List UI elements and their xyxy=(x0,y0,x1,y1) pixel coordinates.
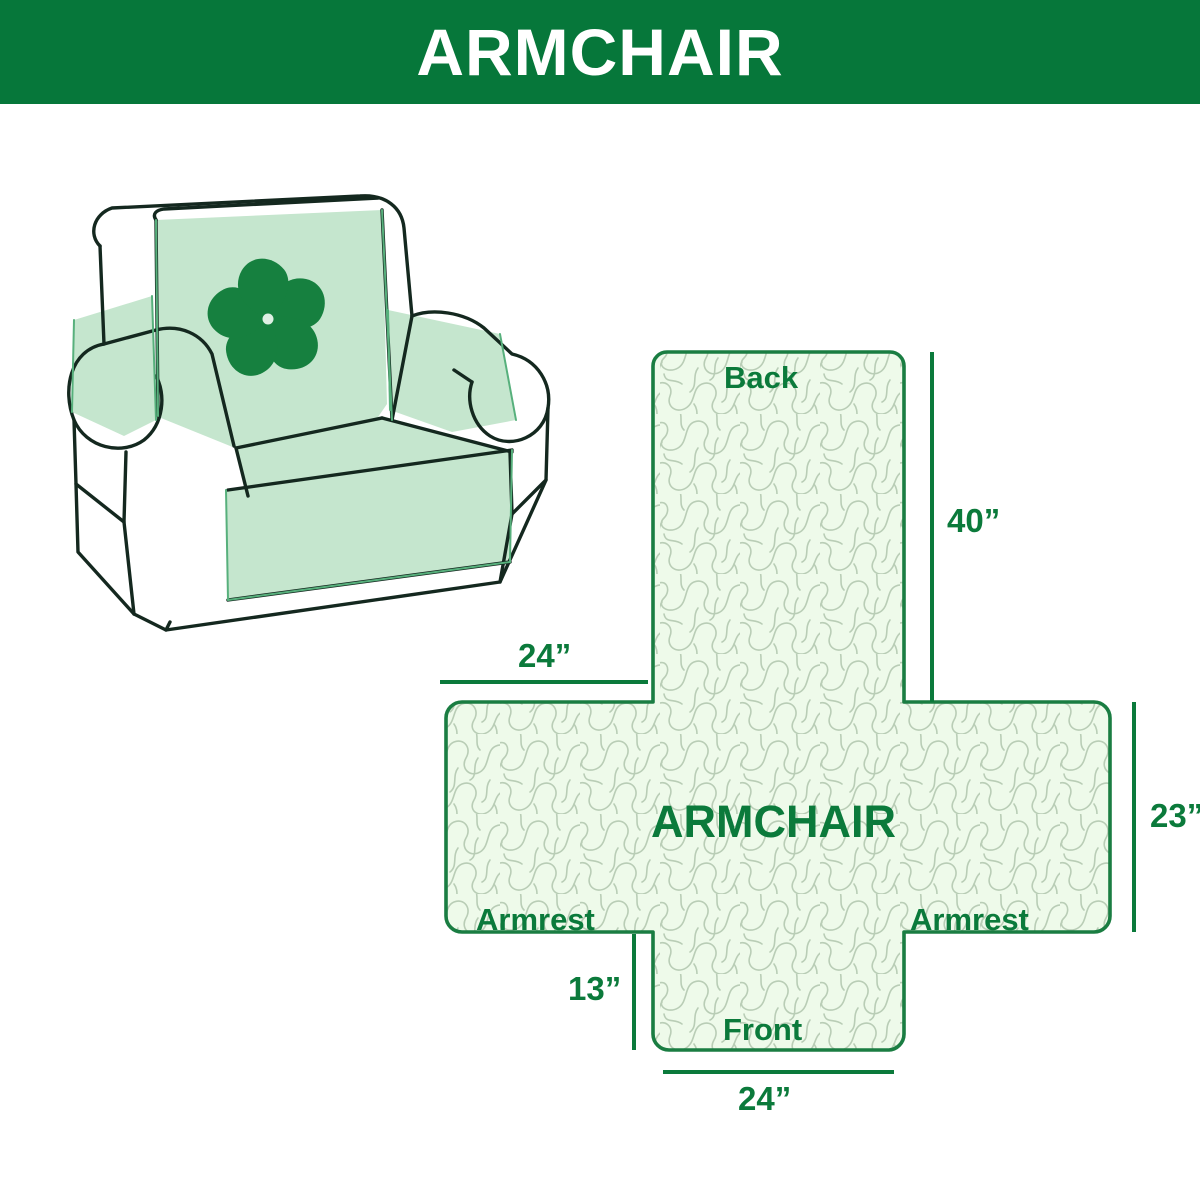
pattern-title: ARMCHAIR xyxy=(651,799,896,844)
cover-pattern-diagram: Back ARMCHAIR Armrest Armrest Front 40” … xyxy=(420,334,1200,1194)
diagram-stage: Back ARMCHAIR Armrest Armrest Front 40” … xyxy=(0,104,1200,1200)
dimension-label-front-width: 24” xyxy=(738,1082,791,1115)
dimension-label-armrest-width: 24” xyxy=(518,639,571,672)
dimension-label-back-height: 40” xyxy=(947,504,1000,537)
label-armrest-left: Armrest xyxy=(476,904,595,935)
dimension-label-seat-depth: 23” xyxy=(1150,799,1200,832)
page-title: ARMCHAIR xyxy=(416,19,783,85)
label-front: Front xyxy=(723,1014,802,1045)
product-dimension-diagram: ARMCHAIR xyxy=(0,0,1200,1200)
label-back: Back xyxy=(724,362,798,393)
cover-cross-shape xyxy=(446,352,1110,1050)
header-banner: ARMCHAIR xyxy=(0,0,1200,104)
label-armrest-right: Armrest xyxy=(910,904,1029,935)
dimension-label-front-drop: 13” xyxy=(568,972,621,1005)
